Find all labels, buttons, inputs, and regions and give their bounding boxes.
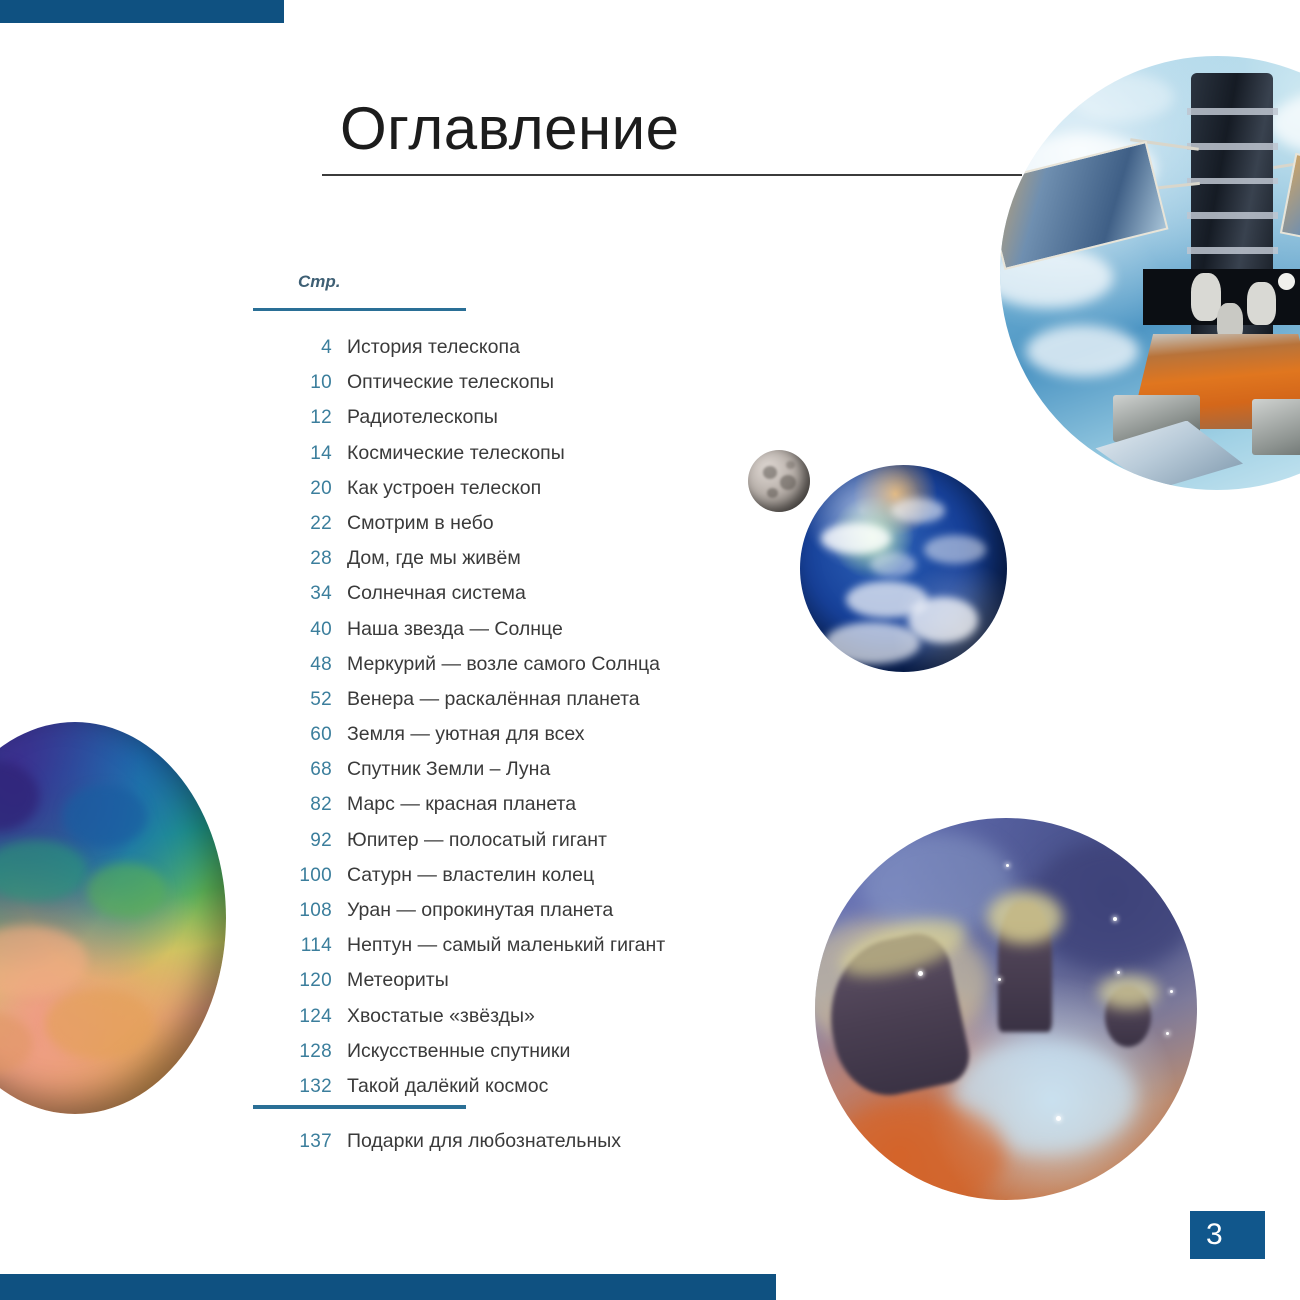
toc-entry[interactable]: 10 Оптические телескопы [253,371,773,406]
venus-radar-map-image [0,722,226,1114]
page-number-badge: 3 [1190,1211,1265,1259]
toc-entry[interactable]: 40 Наша звезда — Солнце [253,618,773,653]
earth-image [800,465,1007,672]
toc-entry[interactable]: 34 Солнечная система [253,582,773,617]
toc-entry-title: Метеориты [332,969,449,992]
toc-page-number: 68 [253,759,332,781]
toc-entry[interactable]: 137 Подарки для любознательных [253,1130,773,1165]
toc-entry-title: Спутник Земли – Луна [332,758,550,781]
toc-entry-title: Подарки для любознательных [332,1130,621,1153]
toc-entry[interactable]: 82 Марс — красная планета [253,793,773,828]
solar-panel-right [1280,153,1300,267]
toc-entry-title: Нептун — самый маленький гигант [332,934,665,957]
toc-entry-title: Радиотелескопы [332,406,498,429]
toc-page-number: 34 [253,583,332,605]
table-of-contents: 4 История телескопа 10 Оптические телеск… [253,336,773,1110]
page-root: Оглавление Стр. 4 История телескопа 10 О… [0,0,1300,1300]
hubble-telescope-image [1000,56,1300,490]
toc-entry-title: Земля — уютная для всех [332,723,585,746]
toc-entry-title: Марс — красная планета [332,793,576,816]
toc-entry-title: Юпитер — полосатый гигант [332,829,607,852]
toc-page-number: 4 [253,337,332,359]
toc-entry-title: Искусственные спутники [332,1040,570,1063]
toc-page-number: 12 [253,407,332,429]
toc-page-number: 132 [253,1076,332,1098]
toc-entry-title: Меркурий — возле самого Солнца [332,653,660,676]
toc-page-number: 14 [253,443,332,465]
column-header-rule [253,308,466,311]
toc-page-number: 10 [253,372,332,394]
toc-entry[interactable]: 60 Земля — уютная для всех [253,723,773,758]
toc-page-number: 114 [253,935,332,957]
toc-page-number: 137 [253,1131,332,1153]
toc-entry[interactable]: 114 Нептун — самый маленький гигант [253,934,773,969]
decorative-bar-top-left [0,0,284,23]
toc-page-number: 60 [253,724,332,746]
toc-page-number: 124 [253,1006,332,1028]
toc-entry-title: Наша звезда — Солнце [332,618,563,641]
toc-entry[interactable]: 52 Венера — раскалённая планета [253,688,773,723]
toc-page-number: 82 [253,794,332,816]
toc-page-number: 120 [253,970,332,992]
toc-divider [253,1105,466,1109]
toc-page-number: 52 [253,689,332,711]
page-title: Оглавление [340,96,680,162]
toc-page-number: 20 [253,478,332,500]
toc-entry-title: Сатурн — властелин колец [332,864,594,887]
toc-page-number: 22 [253,513,332,535]
toc-entry-title: Хвостатые «звёзды» [332,1005,535,1028]
toc-page-number: 108 [253,900,332,922]
toc-entry-title: Космические телескопы [332,442,565,465]
decorative-bar-bottom-left [0,1274,776,1300]
toc-page-number: 28 [253,548,332,570]
toc-entry[interactable]: 28 Дом, где мы живём [253,547,773,582]
toc-entry-title: Солнечная система [332,582,526,605]
toc-entry-title: Как устроен телескоп [332,477,541,500]
toc-entry[interactable]: 20 Как устроен телескоп [253,477,773,512]
toc-entry[interactable]: 12 Радиотелескопы [253,406,773,441]
title-underline [322,174,1022,176]
toc-entry[interactable]: 48 Меркурий — возле самого Солнца [253,653,773,688]
toc-entry-title: Дом, где мы живём [332,547,521,570]
toc-entry[interactable]: 68 Спутник Земли – Луна [253,758,773,793]
moon-image [748,450,810,512]
table-of-contents-appendix: 137 Подарки для любознательных [253,1130,773,1165]
toc-page-number: 128 [253,1041,332,1063]
toc-entry[interactable]: 100 Сатурн — властелин колец [253,864,773,899]
toc-entry[interactable]: 14 Космические телескопы [253,442,773,477]
toc-page-number: 40 [253,619,332,641]
toc-entry-title: История телескопа [332,336,520,359]
column-header-pages: Стр. [298,272,341,292]
toc-entry-title: Смотрим в небо [332,512,494,535]
toc-entry-title: Такой далёкий космос [332,1075,548,1098]
toc-entry-title: Оптические телескопы [332,371,554,394]
toc-entry[interactable]: 128 Искусственные спутники [253,1040,773,1075]
toc-page-number: 92 [253,830,332,852]
nebula-image [815,818,1197,1200]
toc-page-number: 100 [253,865,332,887]
toc-entry[interactable]: 120 Метеориты [253,969,773,1004]
toc-entry[interactable]: 92 Юпитер — полосатый гигант [253,829,773,864]
astronaut [1247,282,1275,325]
toc-entry[interactable]: 124 Хвостатые «звёзды» [253,1005,773,1040]
toc-entry[interactable]: 22 Смотрим в небо [253,512,773,547]
toc-entry-title: Венера — раскалённая планета [332,688,640,711]
toc-entry[interactable]: 108 Уран — опрокинутая планета [253,899,773,934]
toc-page-number: 48 [253,654,332,676]
toc-entry-title: Уран — опрокинутая планета [332,899,613,922]
toc-entry[interactable]: 4 История телескопа [253,336,773,371]
